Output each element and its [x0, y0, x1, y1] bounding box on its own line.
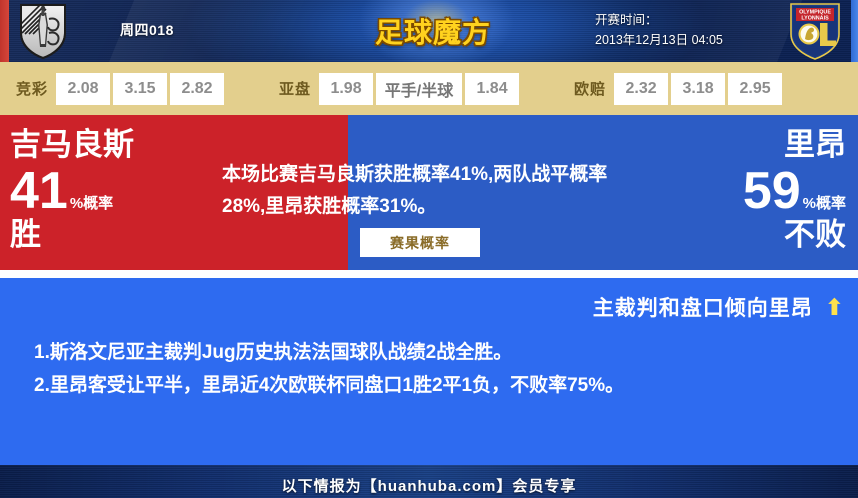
header-right-accent-stripe [851, 0, 858, 62]
probability-description: 本场比赛吉马良斯获胜概率41%,两队战平概率28%,里昂获胜概率31%。 [222, 159, 622, 223]
odds-cell-handicap-line[interactable]: 平手/半球 [376, 73, 462, 105]
trend-up-arrow-icon: ⬆ [825, 297, 844, 318]
odds-cell-away[interactable]: 2.95 [728, 73, 782, 105]
home-percent-row: 41 %概率 [10, 165, 134, 217]
odds-cell-draw[interactable]: 3.18 [671, 73, 725, 105]
tab-result-probability[interactable]: 赛果概率 [360, 228, 480, 257]
kickoff-time-block: 开赛时间： 2013年12月13日 04:05 [595, 10, 723, 50]
analysis-header: 主裁判和盘口倾向里昂 ⬆ [0, 278, 858, 322]
odds-group-title: 欧赔 [574, 78, 606, 99]
odds-cell-away[interactable]: 2.82 [170, 73, 224, 105]
match-preview-infographic: 周四018 足球魔方 开赛时间： 2013年12月13日 04:05 OLYMP… [0, 0, 858, 498]
analysis-line: 1.斯洛文尼亚主裁判Jug历史执法法国球队战绩2战全胜。 [34, 336, 834, 369]
match-header: 周四018 足球魔方 开赛时间： 2013年12月13日 04:05 OLYMP… [0, 0, 858, 62]
odds-cell-home[interactable]: 2.32 [614, 73, 668, 105]
away-stat: 里昂 59 %概率 不败 [743, 127, 846, 252]
away-result-outcome: 不败 [743, 218, 846, 252]
odds-bar: 竞彩 2.08 3.15 2.82 亚盘 1.98 平手/半球 1.84 欧赔 … [0, 62, 858, 115]
odds-group-title: 竞彩 [16, 78, 48, 99]
odds-cell-away[interactable]: 1.84 [465, 73, 519, 105]
home-result-outcome: 胜 [10, 218, 134, 252]
olympique-lyonnais-crest-icon: OLYMPIQUE LYONNAIS [786, 1, 844, 61]
analysis-panel: 主裁判和盘口倾向里昂 ⬆ 1.斯洛文尼亚主裁判Jug历史执法法国球队战绩2战全胜… [0, 278, 858, 465]
result-probability-panel: 吉马良斯 41 %概率 胜 里昂 59 %概率 不败 赛果概率 本场比赛吉马良斯… [0, 115, 858, 270]
vitoria-guimaraes-crest-icon [18, 3, 68, 59]
analysis-body: 1.斯洛文尼亚主裁判Jug历史执法法国球队战绩2战全胜。 2.里昂客受让平半，里… [0, 322, 858, 402]
section-divider [0, 270, 858, 278]
home-percent-unit: %概率 [70, 196, 113, 217]
odds-group-title: 亚盘 [279, 78, 311, 99]
analysis-title: 主裁判和盘口倾向里昂 [593, 292, 813, 322]
match-round-label: 周四018 [120, 20, 174, 40]
brand-logo: 足球魔方 [363, 7, 503, 55]
brand-logo-text: 足球魔方 [375, 11, 491, 51]
odds-cell-home[interactable]: 1.98 [319, 73, 373, 105]
header-left-accent-stripe [0, 0, 9, 62]
away-percent-row: 59 %概率 [743, 165, 846, 217]
home-percent-value: 41 [10, 165, 68, 217]
footer-banner: 以下情报为【huanhuba.com】会员专享 [0, 465, 858, 498]
home-team-name: 吉马良斯 [10, 127, 134, 163]
odds-group-asian-handicap: 亚盘 1.98 平手/半球 1.84 [279, 73, 522, 105]
odds-group-jingcai: 竞彩 2.08 3.15 2.82 [16, 73, 227, 105]
odds-cell-home[interactable]: 2.08 [56, 73, 110, 105]
odds-cell-draw[interactable]: 3.15 [113, 73, 167, 105]
kickoff-label: 开赛时间： [595, 10, 723, 30]
away-team-name: 里昂 [743, 127, 846, 163]
away-percent-unit: %概率 [803, 196, 846, 217]
svg-text:LYONNAIS: LYONNAIS [801, 15, 829, 21]
analysis-line: 2.里昂客受让平半，里昂近4次欧联杯同盘口1胜2平1负，不败率75%。 [34, 369, 834, 402]
kickoff-value: 2013年12月13日 04:05 [595, 30, 723, 50]
footer-membership-note: 以下情报为【huanhuba.com】会员专享 [282, 475, 577, 496]
home-stat: 吉马良斯 41 %概率 胜 [10, 127, 134, 252]
odds-group-european: 欧赔 2.32 3.18 2.95 [574, 73, 785, 105]
away-percent-value: 59 [743, 165, 801, 217]
